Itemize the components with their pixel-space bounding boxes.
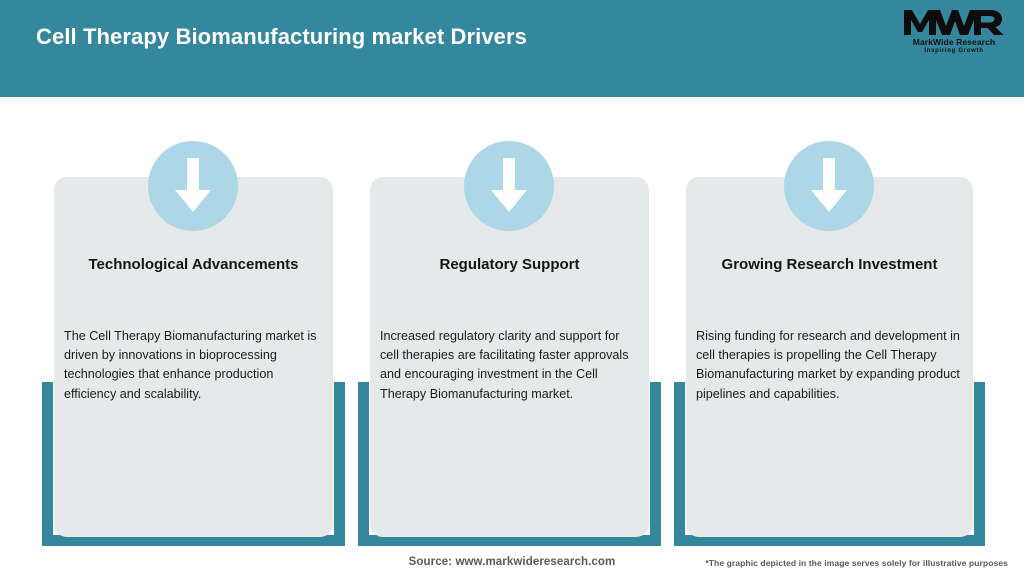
page-title: Cell Therapy Biomanufacturing market Dri… [36,24,527,50]
card-heading-1: Technological Advancements [54,255,333,274]
card-body-1: The Cell Therapy Biomanufacturing market… [64,327,323,404]
card-panel-3: Growing Research Investment Rising fundi… [686,177,973,537]
logo-tagline: Inspiring Growth [902,47,1006,55]
footer-disclaimer-label: *The graphic depicted in the image serve… [705,558,1008,568]
card-panel-2: Regulatory Support Increased regulatory … [370,177,649,537]
brand-logo: MarkWide Research Inspiring Growth [902,8,1006,58]
logo-company-name: MarkWide Research [902,37,1006,47]
card-heading-3: Growing Research Investment [686,255,973,274]
down-arrow-icon [148,141,238,231]
card-body-2: Increased regulatory clarity and support… [380,327,639,404]
card-heading-2: Regulatory Support [370,255,649,274]
down-arrow-icon [784,141,874,231]
card-body-3: Rising funding for research and developm… [696,327,963,404]
down-arrow-icon [464,141,554,231]
card-panel-1: Technological Advancements The Cell Ther… [54,177,333,537]
mwr-logo-icon [902,8,1006,36]
